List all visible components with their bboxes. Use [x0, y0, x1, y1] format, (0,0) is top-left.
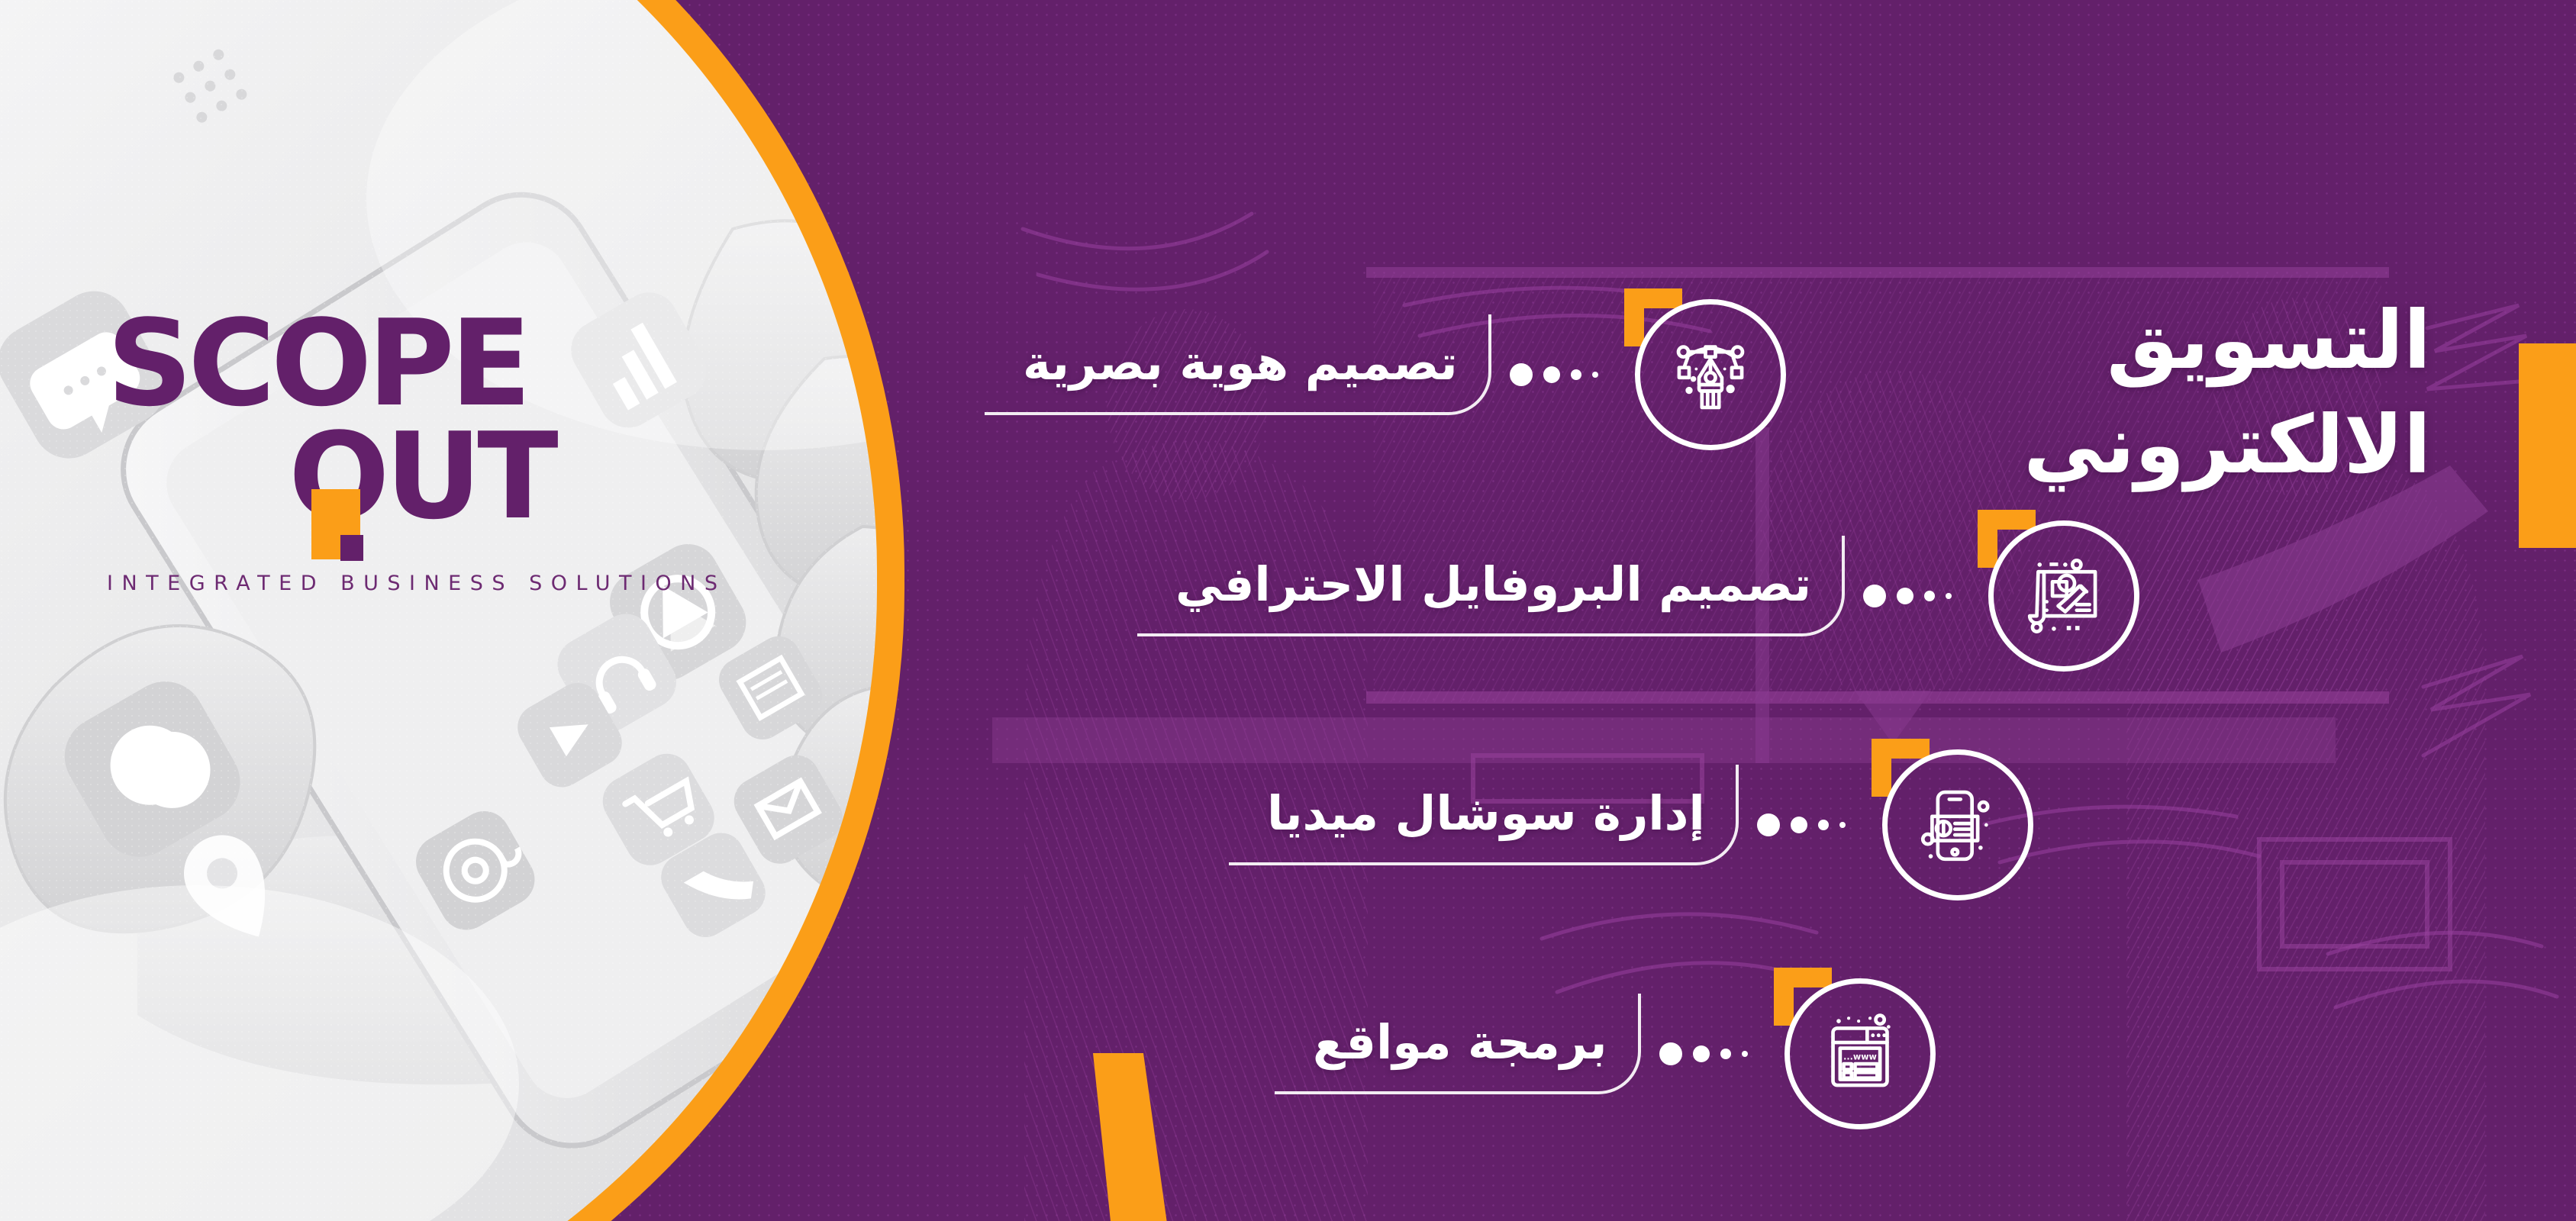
pen-tool-icon — [1668, 332, 1753, 417]
service-icon-circle — [1988, 520, 2139, 672]
service-label-frame: تصميم هوية بصرية — [992, 328, 1491, 420]
page-title: التسويق الالكتروني — [2023, 288, 2431, 497]
connector-dots — [1845, 585, 1971, 607]
blueprint-pencil-icon — [2021, 553, 2107, 639]
service-item-profile-design[interactable]: تصميم البروفايل الاحترافي — [1145, 511, 2141, 681]
orange-square-mark — [311, 489, 360, 559]
service-item-social-media[interactable]: إدارة سوشال ميديا — [1236, 740, 2035, 910]
connector-dots — [1491, 363, 1618, 386]
service-label: تصميم هوية بصرية — [1023, 336, 1458, 390]
scope-out-logo: SCOPE OUT INTEGRATED BUSINESS SOLUTIONS — [107, 309, 656, 595]
service-label: إدارة سوشال ميديا — [1267, 786, 1705, 840]
logo-word-scope: SCOPE — [107, 309, 656, 419]
service-item-visual-identity[interactable]: تصميم هوية بصرية — [992, 290, 1788, 459]
service-label: برمجة مواقع — [1313, 1015, 1607, 1069]
service-label-frame: إدارة سوشال ميديا — [1236, 778, 1739, 871]
headline-line-2: الالكتروني — [2023, 393, 2431, 498]
mobile-payment-icon — [1915, 782, 2001, 868]
service-icon-circle — [1635, 299, 1786, 450]
service-icon-wrap — [1618, 290, 1788, 459]
headline-line-1: التسويق — [2023, 288, 2431, 393]
browser-window-icon: www... — [1817, 1011, 1903, 1097]
connector-dots — [1739, 813, 1865, 836]
service-icon-circle: www... — [1785, 978, 1936, 1129]
logo-bottom-row: OUT — [107, 422, 656, 536]
marketing-banner: SCOPE OUT INTEGRATED BUSINESS SOLUTIONS … — [0, 0, 2576, 1221]
logo-tagline: INTEGRATED BUSINESS SOLUTIONS — [107, 572, 656, 595]
service-label: تصميم البروفايل الاحترافي — [1175, 557, 1811, 611]
service-icon-wrap — [1971, 511, 2141, 681]
connector-dots — [1641, 1042, 1768, 1065]
orange-accent-bar — [2519, 343, 2576, 548]
service-label-frame: برمجة مواقع — [1282, 1007, 1641, 1100]
service-label-frame: تصميم البروفايل الاحترافي — [1145, 549, 1845, 642]
service-icon-circle — [1882, 749, 2033, 900]
service-icon-wrap — [1865, 740, 2035, 910]
services-list: تصميم هوية بصرية — [992, 290, 2061, 1190]
service-item-web-development[interactable]: برمجة مواقع www... — [1282, 969, 1937, 1139]
service-icon-wrap: www... — [1768, 969, 1937, 1139]
browser-url-text: www... — [1843, 1052, 1877, 1062]
